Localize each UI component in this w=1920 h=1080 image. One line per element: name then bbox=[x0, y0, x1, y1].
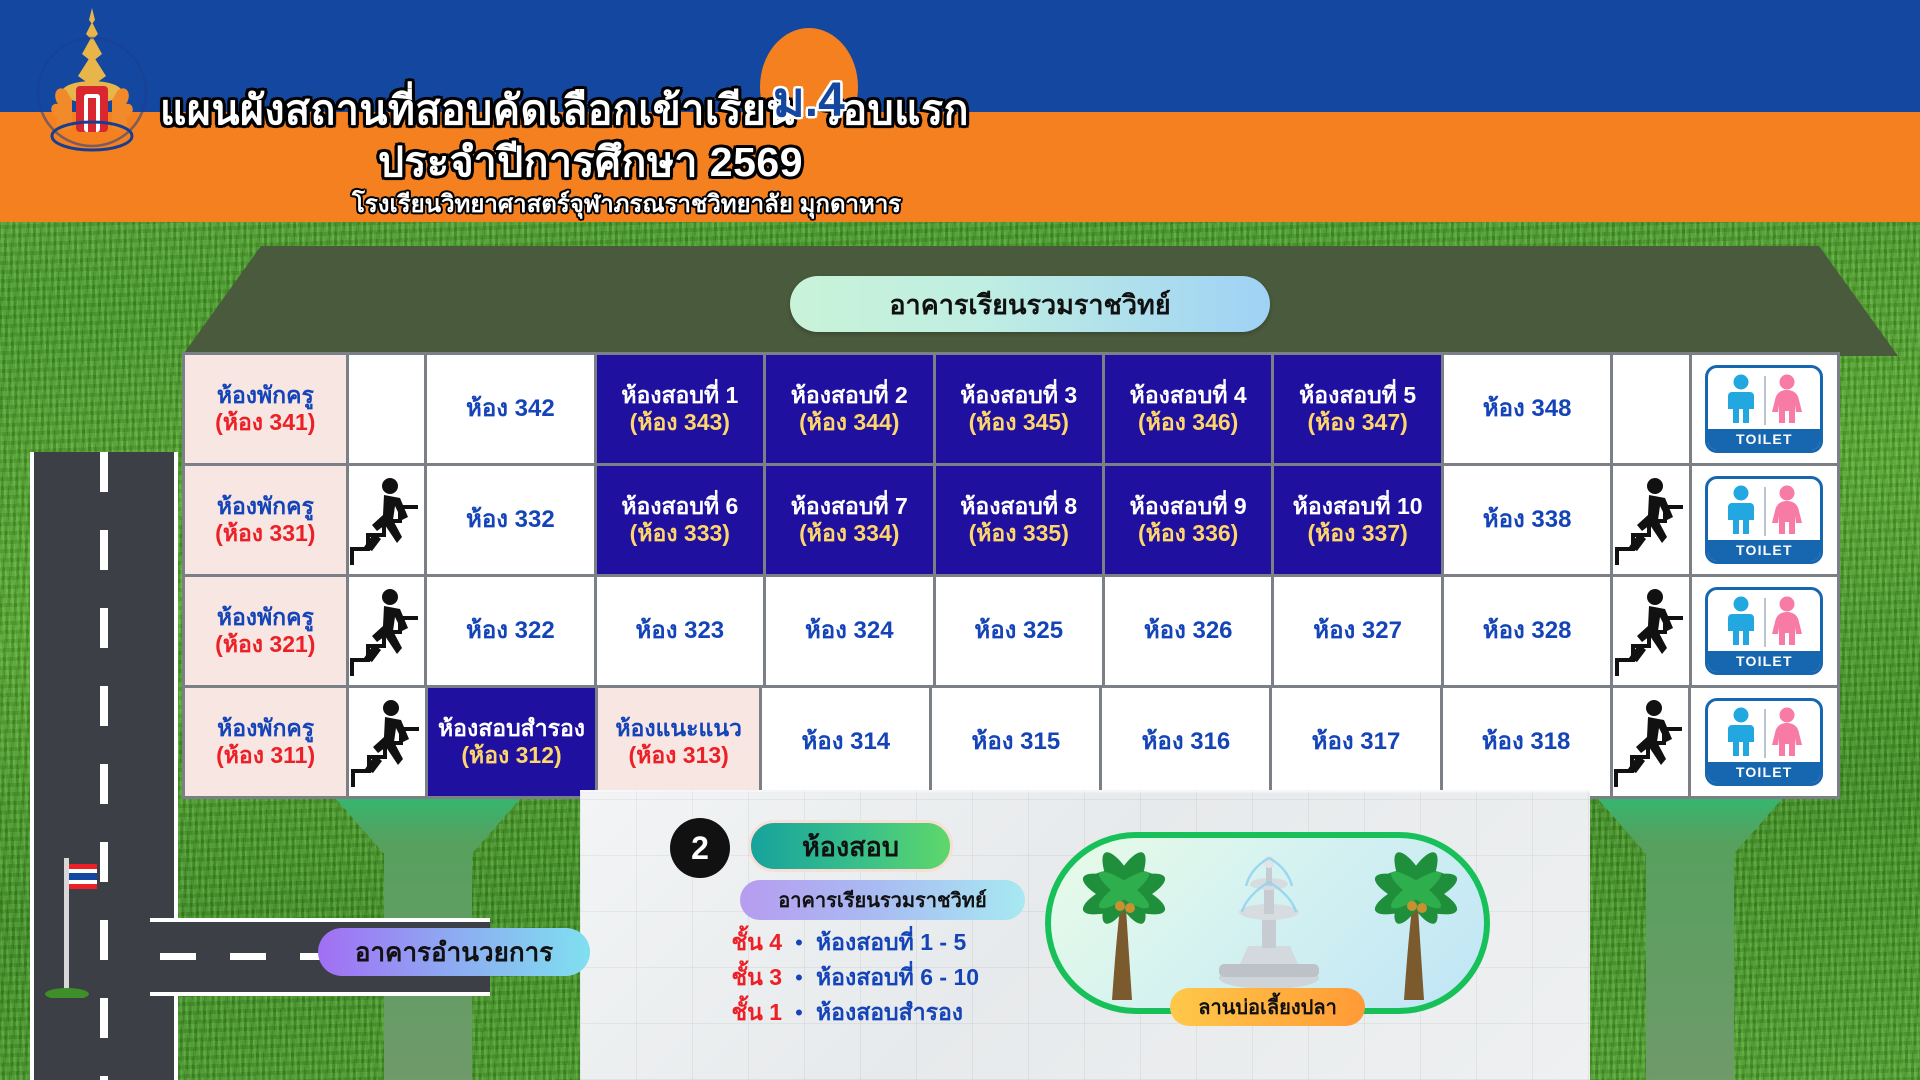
exam-room-cell[interactable]: ห้องสอบที่ 2(ห้อง 344) bbox=[766, 355, 932, 463]
empty-cell bbox=[349, 355, 424, 463]
room-number: (ห้อง 346) bbox=[1138, 409, 1238, 436]
exam-room-cell[interactable]: ห้องสอบที่ 10(ห้อง 337) bbox=[1274, 466, 1440, 574]
room-row-floor-4: ห้องพักครู(ห้อง 341)ห้อง 342ห้องสอบที่ 1… bbox=[185, 355, 1837, 463]
room-title: ห้องสอบที่ 5 bbox=[1299, 382, 1416, 409]
room-title: ห้องพักครู bbox=[217, 493, 314, 520]
toilet-cell[interactable]: TOILET bbox=[1692, 466, 1837, 574]
room-cell[interactable]: ห้อง 322 bbox=[427, 577, 593, 685]
room-title: ห้อง 316 bbox=[1142, 728, 1231, 756]
male-restroom-icon bbox=[1719, 706, 1763, 758]
legend-floor-label: ชั้น 4 bbox=[700, 925, 782, 961]
room-title: ห้องสอบที่ 4 bbox=[1130, 382, 1247, 409]
room-number: (ห้อง 347) bbox=[1307, 409, 1407, 436]
legend-floor-rooms: ห้องสอบที่ 6 - 10 bbox=[816, 960, 979, 996]
room-cell[interactable]: ห้อง 327 bbox=[1274, 577, 1440, 685]
room-number: (ห้อง 343) bbox=[630, 409, 730, 436]
room-cell[interactable]: ห้อง 328 bbox=[1444, 577, 1610, 685]
room-title: ห้อง 315 bbox=[972, 728, 1061, 756]
stairs-cell bbox=[1613, 466, 1688, 574]
legend-floor-rooms: ห้องสอบที่ 1 - 5 bbox=[816, 925, 966, 961]
toilet-sign: TOILET bbox=[1705, 365, 1823, 453]
room-number: (ห้อง 313) bbox=[629, 742, 729, 769]
special-room-cell[interactable]: ห้องพักครู(ห้อง 331) bbox=[185, 466, 346, 574]
special-room-cell[interactable]: ห้องพักครู(ห้อง 321) bbox=[185, 577, 346, 685]
legend-floor-row: ชั้น 1•ห้องสอบสำรอง bbox=[700, 995, 1060, 1030]
room-number: (ห้อง 333) bbox=[630, 520, 730, 547]
special-room-cell[interactable]: ห้องแนะแนว(ห้อง 313) bbox=[598, 688, 759, 796]
female-restroom-icon bbox=[1765, 595, 1809, 647]
room-number: (ห้อง 341) bbox=[215, 409, 315, 436]
special-room-cell[interactable]: ห้องพักครู(ห้อง 341) bbox=[185, 355, 346, 463]
legend-bullet-icon: • bbox=[782, 1000, 816, 1026]
exam-room-cell[interactable]: ห้องสอบที่ 1(ห้อง 343) bbox=[597, 355, 763, 463]
room-cell[interactable]: ห้อง 325 bbox=[936, 577, 1102, 685]
toilet-cell[interactable]: TOILET bbox=[1692, 577, 1837, 685]
toilet-label: TOILET bbox=[1708, 429, 1820, 450]
room-cell[interactable]: ห้อง 348 bbox=[1444, 355, 1610, 463]
room-cell[interactable]: ห้อง 316 bbox=[1102, 688, 1269, 796]
exam-room-cell[interactable]: ห้องสอบที่ 5(ห้อง 347) bbox=[1274, 355, 1440, 463]
room-row-floor-1: ห้องพักครู(ห้อง 311) ห้องสอบสำรอง(ห้อง 3… bbox=[185, 688, 1837, 796]
room-cell[interactable]: ห้อง 338 bbox=[1444, 466, 1610, 574]
room-title: ห้องสอบที่ 1 bbox=[621, 382, 738, 409]
toilet-sign: TOILET bbox=[1705, 476, 1823, 564]
room-cell[interactable]: ห้อง 332 bbox=[427, 466, 593, 574]
room-title: ห้อง 322 bbox=[466, 617, 555, 645]
palm-tree-right-icon bbox=[1352, 848, 1482, 1008]
legend-floor-list: ชั้น 4•ห้องสอบที่ 1 - 5ชั้น 3•ห้องสอบที่… bbox=[700, 925, 1060, 1030]
exam-room-cell[interactable]: ห้องสอบที่ 9(ห้อง 336) bbox=[1105, 466, 1271, 574]
stairs-icon bbox=[1615, 584, 1687, 678]
male-restroom-icon bbox=[1719, 373, 1763, 425]
toilet-label: TOILET bbox=[1708, 762, 1820, 783]
room-number: (ห้อง 311) bbox=[216, 742, 315, 769]
room-title: ห้องพักครู bbox=[217, 382, 314, 409]
room-number: (ห้อง 336) bbox=[1138, 520, 1238, 547]
room-cell[interactable]: ห้อง 314 bbox=[762, 688, 929, 796]
toilet-cell[interactable]: TOILET bbox=[1692, 355, 1837, 463]
header-title-group: แผนผังสถานที่สอบคัดเลือกเข้าเรียน รอบแรก… bbox=[0, 0, 1920, 222]
stairs-icon bbox=[351, 695, 423, 789]
room-title: ห้อง 342 bbox=[466, 395, 555, 423]
fountain-icon bbox=[1210, 842, 1328, 992]
stairs-cell bbox=[349, 577, 424, 685]
female-restroom-icon bbox=[1765, 373, 1809, 425]
room-cell[interactable]: ห้อง 323 bbox=[597, 577, 763, 685]
toilet-sign: TOILET bbox=[1705, 587, 1823, 675]
exam-room-cell[interactable]: ห้องสอบที่ 6(ห้อง 333) bbox=[597, 466, 763, 574]
room-number: (ห้อง 344) bbox=[799, 409, 899, 436]
road-center-line bbox=[100, 452, 108, 1080]
exam-room-cell[interactable]: ห้องสอบที่ 7(ห้อง 334) bbox=[766, 466, 932, 574]
toilet-sign: TOILET bbox=[1705, 698, 1823, 786]
room-title: ห้องสอบที่ 9 bbox=[1130, 493, 1247, 520]
room-title: ห้อง 348 bbox=[1483, 395, 1572, 423]
stairs-cell bbox=[349, 466, 424, 574]
legend-exam-pill: ห้องสอบ bbox=[748, 820, 953, 872]
room-title: ห้องสอบที่ 6 bbox=[621, 493, 738, 520]
exam-room-cell[interactable]: ห้องสอบสำรอง(ห้อง 312) bbox=[428, 688, 595, 796]
exam-room-cell[interactable]: ห้องสอบที่ 3(ห้อง 345) bbox=[936, 355, 1102, 463]
stairs-icon bbox=[350, 473, 422, 567]
room-title: ห้องแนะแนว bbox=[615, 715, 742, 742]
legend-bullet-icon: • bbox=[782, 965, 816, 991]
room-number: (ห้อง 345) bbox=[969, 409, 1069, 436]
room-number: (ห้อง 321) bbox=[215, 631, 315, 658]
room-title: ห้องสอบที่ 7 bbox=[791, 493, 908, 520]
room-title: ห้อง 328 bbox=[1483, 617, 1572, 645]
room-grid: ห้องพักครู(ห้อง 341)ห้อง 342ห้องสอบที่ 1… bbox=[182, 352, 1840, 799]
legend-floor-label: ชั้น 1 bbox=[700, 995, 782, 1031]
exam-room-cell[interactable]: ห้องสอบที่ 8(ห้อง 335) bbox=[936, 466, 1102, 574]
room-title: ห้องสอบที่ 10 bbox=[1293, 493, 1423, 520]
toilet-label: TOILET bbox=[1708, 651, 1820, 672]
school-name-subtitle: โรงเรียนวิทยาศาสตร์จุฬาภรณราชวิทยาลัย มุ… bbox=[352, 184, 901, 223]
room-cell[interactable]: ห้อง 317 bbox=[1272, 688, 1439, 796]
room-title: ห้องสอบที่ 8 bbox=[960, 493, 1077, 520]
admin-building-label: อาคารอำนวยการ bbox=[318, 928, 590, 976]
stairs-icon bbox=[1615, 473, 1687, 567]
room-number: (ห้อง 335) bbox=[969, 520, 1069, 547]
room-cell[interactable]: ห้อง 315 bbox=[932, 688, 1099, 796]
room-cell[interactable]: ห้อง 342 bbox=[427, 355, 593, 463]
legend-number-badge: 2 bbox=[670, 818, 730, 878]
room-title: ห้องพักครู bbox=[217, 715, 314, 742]
stairs-icon bbox=[1614, 695, 1686, 789]
male-restroom-icon bbox=[1719, 484, 1763, 536]
legend-bullet-icon: • bbox=[782, 930, 816, 956]
stairs-cell bbox=[349, 688, 425, 796]
male-restroom-icon bbox=[1719, 595, 1763, 647]
room-title: ห้อง 332 bbox=[466, 506, 555, 534]
legend-floor-row: ชั้น 4•ห้องสอบที่ 1 - 5 bbox=[700, 925, 1060, 960]
room-title: ห้อง 318 bbox=[1482, 728, 1571, 756]
pond-label: ลานบ่อเลี้ยงปลา bbox=[1170, 988, 1365, 1026]
room-title: ห้องสอบที่ 3 bbox=[960, 382, 1077, 409]
room-number: (ห้อง 334) bbox=[799, 520, 899, 547]
room-number: (ห้อง 331) bbox=[215, 520, 315, 547]
room-cell[interactable]: ห้อง 326 bbox=[1105, 577, 1271, 685]
room-title: ห้อง 324 bbox=[805, 617, 894, 645]
stairs-cell bbox=[1613, 577, 1688, 685]
legend-floor-rooms: ห้องสอบสำรอง bbox=[816, 995, 963, 1031]
room-title: ห้อง 325 bbox=[974, 617, 1063, 645]
palm-tree-left-icon bbox=[1060, 848, 1190, 1008]
special-room-cell[interactable]: ห้องพักครู(ห้อง 311) bbox=[185, 688, 346, 796]
stairs-cell bbox=[1613, 688, 1689, 796]
room-title: ห้อง 314 bbox=[801, 728, 890, 756]
room-title: ห้อง 338 bbox=[1483, 506, 1572, 534]
female-restroom-icon bbox=[1765, 706, 1809, 758]
legend-floor-label: ชั้น 3 bbox=[700, 960, 782, 996]
female-restroom-icon bbox=[1765, 484, 1809, 536]
room-number: (ห้อง 337) bbox=[1307, 520, 1407, 547]
room-cell[interactable]: ห้อง 318 bbox=[1443, 688, 1610, 796]
exam-room-cell[interactable]: ห้องสอบที่ 4(ห้อง 346) bbox=[1105, 355, 1271, 463]
grade-badge-label: ม.4 bbox=[760, 62, 858, 138]
toilet-label: TOILET bbox=[1708, 540, 1820, 561]
room-title: ห้อง 317 bbox=[1312, 728, 1401, 756]
thai-flag-icon bbox=[34, 858, 100, 998]
room-cell[interactable]: ห้อง 324 bbox=[766, 577, 932, 685]
room-title: ห้องสอบที่ 2 bbox=[791, 382, 908, 409]
toilet-cell[interactable]: TOILET bbox=[1691, 688, 1837, 796]
building-name-banner: อาคารเรียนรวมราชวิทย์ bbox=[790, 276, 1270, 332]
room-number: (ห้อง 312) bbox=[461, 742, 561, 769]
room-row-floor-3: ห้องพักครู(ห้อง 331) ห้อง 332ห้องสอบที่ … bbox=[185, 466, 1837, 574]
room-row-floor-2: ห้องพักครู(ห้อง 321) ห้อง 322ห้อง 323ห้อ… bbox=[185, 577, 1837, 685]
room-title: ห้อง 326 bbox=[1144, 617, 1233, 645]
room-title: ห้องสอบสำรอง bbox=[438, 715, 585, 742]
legend-floor-row: ชั้น 3•ห้องสอบที่ 6 - 10 bbox=[700, 960, 1060, 995]
room-title: ห้อง 327 bbox=[1313, 617, 1402, 645]
legend-building-pill: อาคารเรียนรวมราชวิทย์ bbox=[740, 880, 1025, 920]
empty-cell bbox=[1613, 355, 1688, 463]
stairs-icon bbox=[350, 584, 422, 678]
room-title: ห้องพักครู bbox=[217, 604, 314, 631]
room-title: ห้อง 323 bbox=[635, 617, 724, 645]
